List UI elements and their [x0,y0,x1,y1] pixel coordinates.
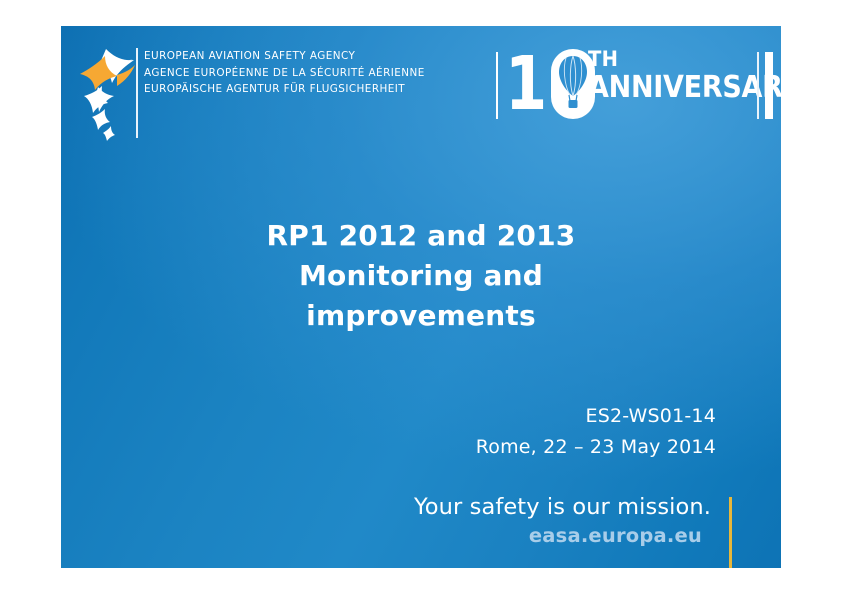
title-line-3: improvements [61,296,781,336]
anniversary-ordinal: TH [588,48,781,70]
agency-names: EUROPEAN AVIATION SAFETY AGENCY AGENCE E… [144,48,474,98]
anniversary-wordmark: TH ANNIVERSARY [588,48,781,103]
anniversary-number: 1 [505,49,595,122]
agency-name-fr: AGENCE EUROPÉENNE DE LA SÉCURITÉ AÉRIENN… [144,65,474,82]
subtitle-location-date: Rome, 22 – 23 May 2014 [61,432,716,463]
title-line-1: RP1 2012 and 2013 [61,216,781,256]
anniversary-thin-rule [757,52,759,119]
logo-divider [136,48,138,138]
anniversary-digit-one: 1 [505,49,546,119]
agency-name-en: EUROPEAN AVIATION SAFETY AGENCY [144,48,474,65]
hot-air-balloon-icon [558,55,588,117]
anniversary-word: ANNIVERSARY [588,72,781,103]
agency-name-de: EUROPÄISCHE AGENTUR FÜR FLUGSICHERHEIT [144,81,474,98]
slide-title: RP1 2012 and 2013 Monitoring and improve… [61,216,781,336]
anniversary-left-rule [496,52,498,119]
tagline: Your safety is our mission. [61,492,711,522]
slide-footer: Your safety is our mission. easa.europa.… [61,492,711,549]
anniversary-thick-rule [765,52,773,119]
anniversary-logo: 1 [491,40,781,132]
presentation-slide: EUROPEAN AVIATION SAFETY AGENCY AGENCE E… [61,26,781,568]
easa-bird-logo-icon [76,43,138,143]
title-line-2: Monitoring and [61,256,781,296]
website-url: easa.europa.eu [61,522,711,549]
gold-accent-rule [729,497,732,568]
slide-header: EUROPEAN AVIATION SAFETY AGENCY AGENCE E… [61,26,781,146]
slide-subtitle: ES2-WS01-14 Rome, 22 – 23 May 2014 [61,401,716,463]
subtitle-reference: ES2-WS01-14 [61,401,716,432]
